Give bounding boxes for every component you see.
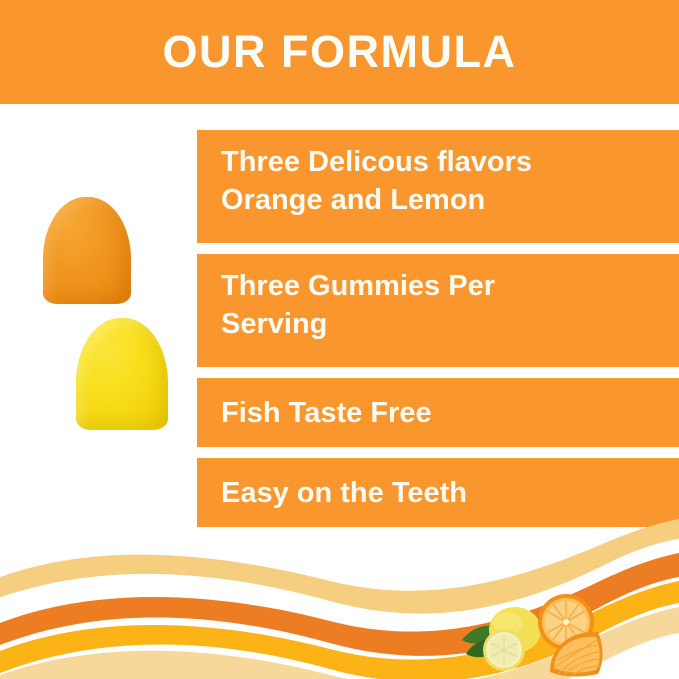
orange-gummy-image bbox=[43, 197, 131, 304]
feature-serving-line2: Serving bbox=[221, 306, 661, 344]
gummy-image-group bbox=[0, 0, 190, 280]
feature-list: Three Delicous flavors Orange and Lemon … bbox=[197, 130, 679, 538]
feature-block-easy-on-teeth: Easy on the Teeth bbox=[197, 458, 679, 527]
citrus-fruit-svg bbox=[458, 588, 618, 679]
feature-serving-line1: Three Gummies Per bbox=[221, 268, 661, 306]
feature-block-serving: Three Gummies Per Serving bbox=[197, 254, 679, 367]
feature-fish-taste-free-line1: Fish Taste Free bbox=[221, 395, 661, 433]
feature-block-fish-taste-free: Fish Taste Free bbox=[197, 378, 679, 447]
citrus-fruit-image bbox=[458, 588, 618, 679]
feature-flavors-line2: Orange and Lemon bbox=[221, 182, 661, 220]
feature-block-flavors: Three Delicous flavors Orange and Lemon bbox=[197, 130, 679, 243]
feature-easy-on-teeth-line1: Easy on the Teeth bbox=[221, 475, 661, 513]
infographic-canvas: OUR FORMULA Three Delicous flavors Orang… bbox=[0, 0, 679, 679]
feature-flavors-line1: Three Delicous flavors bbox=[221, 144, 661, 182]
page-title: OUR FORMULA bbox=[163, 29, 517, 74]
lemon-gummy-image bbox=[76, 318, 168, 430]
